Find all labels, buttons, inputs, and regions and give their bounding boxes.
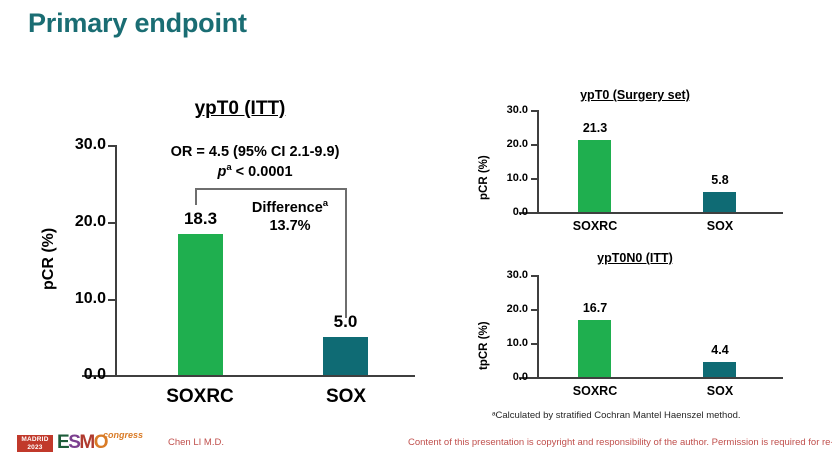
p-symbol: p: [217, 164, 226, 180]
congress-wordmark: congress: [103, 430, 143, 440]
y-tick-label-30-main: 30.0: [48, 136, 106, 154]
y-tick-label-0-main: 0.0: [48, 366, 106, 384]
bar-value-soxrc-ypt0n0: 16.7: [564, 301, 626, 315]
bar-soxrc-ypt0n0: [578, 320, 611, 377]
bar-value-soxrc-surgery: 21.3: [564, 121, 626, 135]
chart-title-main: ypT0 (ITT): [120, 98, 360, 120]
badge-city: MADRID: [17, 436, 53, 444]
y-tick-label-20-surgery: 20.0: [486, 138, 528, 150]
x-category-soxrc-surgery: SOXRC: [556, 219, 634, 233]
x-category-soxrc-main: SOXRC: [150, 386, 250, 408]
bracket-left-stub: [195, 188, 197, 205]
y-axis-line-main: [115, 145, 117, 376]
odds-ratio-text: OR = 4.5 (95% CI 2.1-9.9): [140, 144, 370, 160]
y-axis-label-main: pCR (%): [40, 228, 58, 290]
bar-value-sox-main: 5.0: [308, 312, 383, 332]
badge-year: 2023: [17, 444, 53, 452]
y-tick-label-20-ypt0n0: 20.0: [486, 303, 528, 315]
page-title: Primary endpoint: [28, 8, 247, 39]
x-category-sox-ypt0n0: SOX: [681, 384, 759, 398]
esmo-wordmark: ESMO: [57, 432, 107, 453]
difference-label: Differencea: [222, 200, 358, 216]
y-tick-label-10-surgery: 10.0: [486, 172, 528, 184]
y-tick-30-main: [108, 145, 116, 147]
y-tick-label-0-surgery: 0.0: [486, 206, 528, 218]
footer-copyright: Content of this presentation is copyrigh…: [408, 437, 832, 448]
slide-canvas: Primary endpoint ypT0 (ITT) pCR (%) 30.0…: [0, 0, 832, 468]
difference-value: 13.7%: [222, 218, 358, 234]
bar-value-soxrc-main: 18.3: [163, 209, 238, 229]
esmo-letter-s: S: [68, 432, 79, 453]
y-tick-20-ypt0n0: [531, 309, 538, 311]
y-tick-label-10-main: 10.0: [48, 290, 106, 308]
x-axis-line-main: [82, 375, 415, 377]
y-tick-label-30-ypt0n0: 30.0: [486, 269, 528, 281]
y-axis-line-ypt0n0: [537, 275, 539, 377]
y-tick-label-0-ypt0n0: 0.0: [486, 371, 528, 383]
bar-soxrc-surgery: [578, 140, 611, 212]
esmo-congress-logo: MADRID 2023 ESMO congress: [17, 430, 139, 456]
x-axis-line-ypt0n0: [519, 377, 783, 379]
footer-author: Chen LI M.D.: [168, 437, 224, 448]
bar-soxrc-main: [178, 234, 223, 375]
difference-superscript: a: [323, 198, 328, 209]
y-tick-label-10-ypt0n0: 10.0: [486, 337, 528, 349]
difference-label-text: Difference: [252, 200, 323, 216]
bracket-horizontal: [195, 188, 347, 190]
x-category-soxrc-ypt0n0: SOXRC: [556, 384, 634, 398]
y-tick-label-20-main: 20.0: [48, 213, 106, 231]
bar-sox-surgery: [703, 192, 736, 212]
p-comparison: < 0.0001: [232, 164, 293, 180]
y-tick-0-ypt0n0: [531, 377, 538, 379]
madrid-2023-badge: MADRID 2023: [17, 435, 53, 452]
y-tick-10-main: [108, 299, 116, 301]
y-tick-20-main: [108, 222, 116, 224]
y-tick-30-ypt0n0: [531, 275, 538, 277]
x-category-sox-main: SOX: [296, 386, 396, 408]
chart-title-ypt0n0: ypT0N0 (ITT): [525, 251, 745, 265]
y-tick-0-main: [108, 375, 116, 377]
bar-value-sox-surgery: 5.8: [689, 173, 751, 187]
y-tick-10-ypt0n0: [531, 343, 538, 345]
y-tick-30-surgery: [531, 110, 538, 112]
esmo-letter-m: M: [79, 432, 93, 453]
p-value-text: pa < 0.0001: [140, 164, 370, 180]
bar-sox-main: [323, 337, 368, 375]
esmo-letter-e: E: [57, 432, 68, 453]
x-category-sox-surgery: SOX: [681, 219, 759, 233]
y-tick-20-surgery: [531, 144, 538, 146]
y-tick-label-30-surgery: 30.0: [486, 104, 528, 116]
chart-footnote: ᵃCalculated by stratified Cochran Mantel…: [492, 410, 741, 421]
y-tick-10-surgery: [531, 178, 538, 180]
chart-title-surgery: ypT0 (Surgery set): [525, 88, 745, 102]
x-axis-line-surgery: [519, 212, 783, 214]
bar-value-sox-ypt0n0: 4.4: [689, 343, 751, 357]
bar-sox-ypt0n0: [703, 362, 736, 377]
y-tick-0-surgery: [531, 212, 538, 214]
y-axis-line-surgery: [537, 110, 539, 212]
